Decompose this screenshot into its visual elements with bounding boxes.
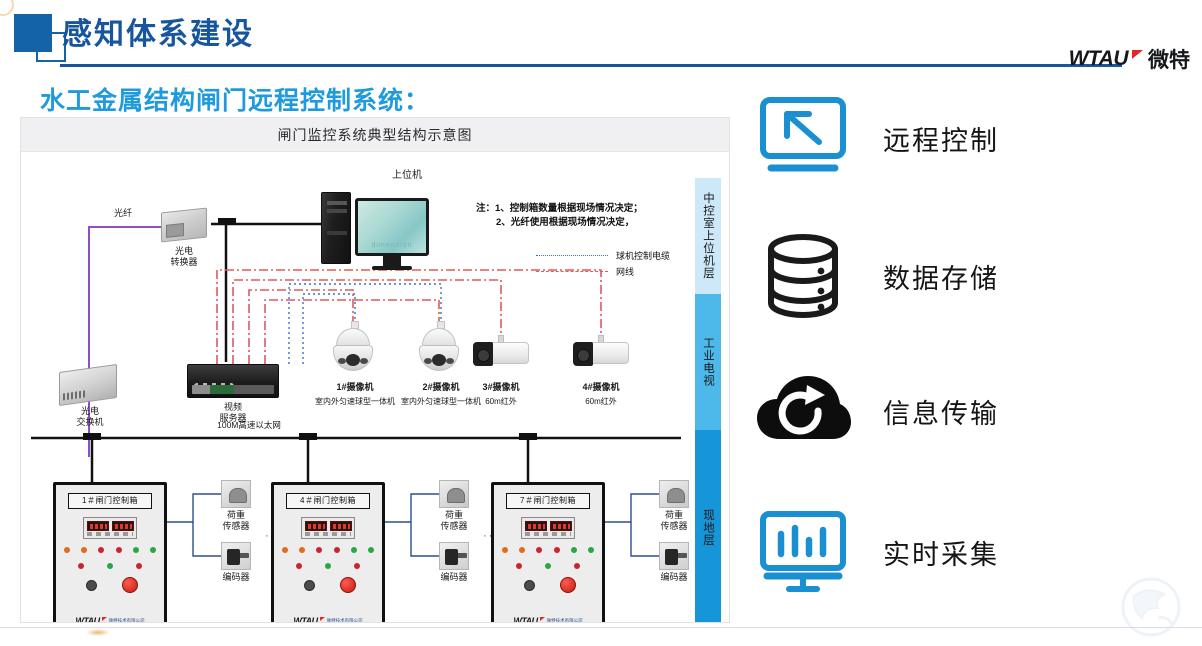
cabinet-selector-knob[interactable] (86, 580, 97, 591)
diagram-note-2: 2、光纤使用根据现场情况决定， (476, 216, 676, 230)
cabinet-led-row-2 (516, 563, 580, 569)
load-sensor-3-icon (659, 480, 689, 508)
diagram-notes: 注：1、控制箱数量根据现场情况决定； 2、光纤使用根据现场情况决定， (476, 202, 676, 230)
cabinet-3: 7＃闸门控制箱 WTAU微特技术有限公司 (491, 482, 605, 622)
cabinet-meter-display (301, 517, 355, 539)
cabinet-logo: WTAU微特技术有限公司 (56, 616, 164, 622)
cabinet-logo: WTAU微特技术有限公司 (274, 616, 382, 622)
media-converter-device (161, 208, 207, 243)
bottom-accent-mark (86, 629, 110, 636)
video-server-device (187, 364, 279, 398)
diagram-caption-bar: 闸门监控系统典型结构示意图 (21, 118, 729, 152)
camera-1-spec: 室内外匀速球型一体机 (307, 396, 403, 407)
feature-item-data-storage: 数据存储 (755, 233, 999, 319)
legend-item-ptz-cable: 球机控制电缆 (536, 247, 670, 263)
feature-label: 实时采集 (883, 533, 999, 572)
encoder-2-icon (439, 542, 469, 570)
cabinet-led-row-1 (64, 547, 156, 553)
cabinet-emergency-stop-button[interactable] (122, 577, 138, 593)
title-divider (60, 64, 1122, 67)
encoder-1-icon (221, 542, 251, 570)
cabinet-led-row-2 (296, 563, 360, 569)
host-pc-label: 上位机 (377, 170, 437, 181)
cabinet-led-row-2 (78, 563, 142, 569)
legend-label: 网线 (616, 265, 634, 278)
cloud-sync-icon (755, 373, 851, 449)
layer-band-industrial-tv: 工业电视 (695, 294, 721, 430)
camera-1-name: 1#摄像机 (317, 382, 393, 393)
diagram-body: 光纤 100M高速以太网 光电 转换器 光电 交换机 dimension 上位机 (21, 152, 729, 622)
legend-item-network-cable: 网线 (536, 263, 670, 279)
brand-chinese-text: 微特 (1148, 44, 1190, 74)
fiber-link-label: 光纤 (99, 208, 147, 219)
camera-4-name: 4#摄像机 (563, 382, 639, 393)
cabinet-selector-knob[interactable] (304, 580, 315, 591)
camera-4-spec: 60m红外 (563, 396, 639, 407)
cabinet-led-row-1 (502, 547, 594, 553)
load-sensor-2-label: 荷重 传感器 (425, 510, 483, 532)
monitor-chart-icon (755, 510, 851, 594)
diagram-panel: 闸门监控系统典型结构示意图 (20, 117, 730, 623)
page-title: 感知体系建设 (62, 14, 254, 56)
load-sensor-2-icon (439, 480, 469, 508)
feature-item-remote-control: 远程控制 (755, 96, 999, 180)
cabinet-meter-display (521, 517, 575, 539)
camera-1-device (336, 328, 373, 371)
encoder-2-label: 编码器 (425, 572, 483, 583)
network-cable-swatch-icon (536, 271, 608, 272)
layer-band-control-room: 中控室上位机层 (695, 178, 721, 294)
cabinet-2: 4＃闸门控制箱 WTAU微特技术有限公司 (271, 482, 385, 622)
cabinet-led-row-1 (282, 547, 374, 553)
feature-label: 数据存储 (883, 257, 999, 296)
brand-logo: WTAU 微特 (1069, 44, 1190, 74)
cabinet-emergency-stop-button[interactable] (340, 577, 356, 593)
cabinet-meter-display (83, 517, 137, 539)
camera-2-device (422, 328, 459, 371)
optical-switch-label: 光电 交换机 (59, 406, 121, 428)
pc-tower-icon (321, 192, 351, 264)
media-converter-label: 光电 转换器 (153, 246, 215, 268)
feature-item-information-transfer: 信息传输 (755, 373, 999, 449)
cabinet-logo: WTAU微特技术有限公司 (494, 616, 602, 622)
feature-label: 信息传输 (883, 392, 999, 431)
remote-monitor-icon (755, 96, 851, 180)
cabinet-selector-knob[interactable] (524, 580, 535, 591)
diagram-caption: 闸门监控系统典型结构示意图 (278, 125, 473, 145)
camera-3-name: 3#摄像机 (463, 382, 539, 393)
camera-mount-icon (437, 321, 445, 329)
camera-3-device (473, 342, 529, 364)
layer-band-field: 现地层 (695, 430, 721, 622)
brand-latin-text: WTAU (1069, 47, 1128, 71)
diagram-legend: 球机控制电缆 网线 (536, 247, 670, 279)
ptz-cable-swatch-icon (536, 255, 608, 256)
cabinet-2-title: 4＃闸门控制箱 (286, 493, 370, 509)
corner-circle-decoration (0, 0, 14, 16)
feature-item-realtime-collection: 实时采集 (755, 510, 999, 594)
load-sensor-1-icon (221, 480, 251, 508)
cabinet-1-title: 1＃闸门控制箱 (68, 493, 152, 509)
globe-watermark-icon (1114, 574, 1188, 640)
camera-mount-icon (351, 321, 359, 329)
cabinet-3-title: 7＃闸门控制箱 (506, 493, 590, 509)
camera-4-device (573, 342, 629, 364)
load-sensor-1-label: 荷重 传感器 (207, 510, 265, 532)
cabinet-1: 1＃闸门控制箱 WTAU微特技术有限公司 (53, 482, 167, 622)
legend-label: 球机控制电缆 (616, 249, 670, 262)
section-subtitle: 水工金属结构闸门远程控制系统： (40, 81, 430, 117)
cabinet-emergency-stop-button[interactable] (560, 577, 576, 593)
brand-flag-icon (1132, 50, 1143, 59)
slide-root: 感知体系建设 WTAU 微特 水工金属结构闸门远程控制系统： 闸门监控系统典型结… (0, 0, 1202, 646)
pc-monitor-icon: dimension (355, 198, 429, 256)
camera-3-spec: 60m红外 (463, 396, 539, 407)
feature-label: 远程控制 (883, 119, 999, 158)
bottom-divider (0, 627, 1202, 628)
encoder-1-label: 编码器 (207, 572, 265, 583)
diagram-note-1: 注：1、控制箱数量根据现场情况决定； (476, 202, 676, 216)
encoder-3-icon (659, 542, 689, 570)
database-icon (755, 233, 851, 319)
video-server-label: 视频 服务器 (201, 402, 265, 424)
